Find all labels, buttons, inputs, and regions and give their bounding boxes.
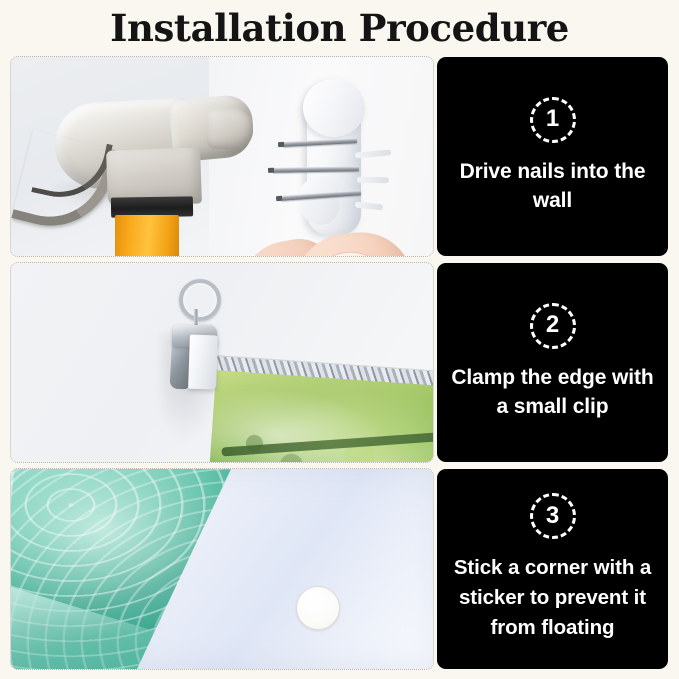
step-photo-2-image — [11, 263, 433, 462]
step-photo-3-image — [11, 469, 433, 669]
wall-hook-lip — [299, 177, 339, 225]
step-caption-2: 2 Clamp the edge with a small clip — [437, 263, 668, 462]
clip-ring-icon — [179, 279, 221, 321]
step-badge-1: 1 — [530, 97, 576, 143]
step-row-2: 2 Clamp the edge with a small clip — [0, 263, 679, 462]
step-number-1: 1 — [546, 107, 559, 131]
wall-sticker — [296, 586, 340, 630]
step-badge-3: 3 — [530, 493, 576, 539]
step-caption-1: 1 Drive nails into the wall — [437, 57, 668, 256]
installation-procedure-page: Installation Procedure — [0, 0, 679, 679]
wall-hook-head — [303, 79, 365, 137]
step-text-3: Stick a corner with a sticker to prevent… — [447, 553, 658, 643]
clip-plate — [188, 335, 218, 390]
step-text-1: Drive nails into the wall — [447, 157, 658, 215]
hook-prong — [357, 177, 389, 184]
hammer-neck-secondary — [207, 109, 253, 149]
step-photo-1-image — [11, 57, 433, 256]
step-badge-2: 2 — [530, 303, 576, 349]
step-row-3: 3 Stick a corner with a sticker to preve… — [0, 469, 679, 669]
hammer-handle — [115, 215, 179, 256]
step-photo-1 — [11, 57, 433, 256]
step-row-1: 1 Drive nails into the wall — [0, 57, 679, 256]
step-caption-3: 3 Stick a corner with a sticker to preve… — [437, 469, 668, 669]
step-text-2: Clamp the edge with a small clip — [447, 363, 658, 421]
step-number-2: 2 — [546, 313, 559, 337]
step-photo-2 — [11, 263, 433, 462]
page-title: Installation Procedure — [0, 6, 679, 50]
step-photo-3 — [11, 469, 433, 669]
step-number-3: 3 — [546, 504, 559, 528]
